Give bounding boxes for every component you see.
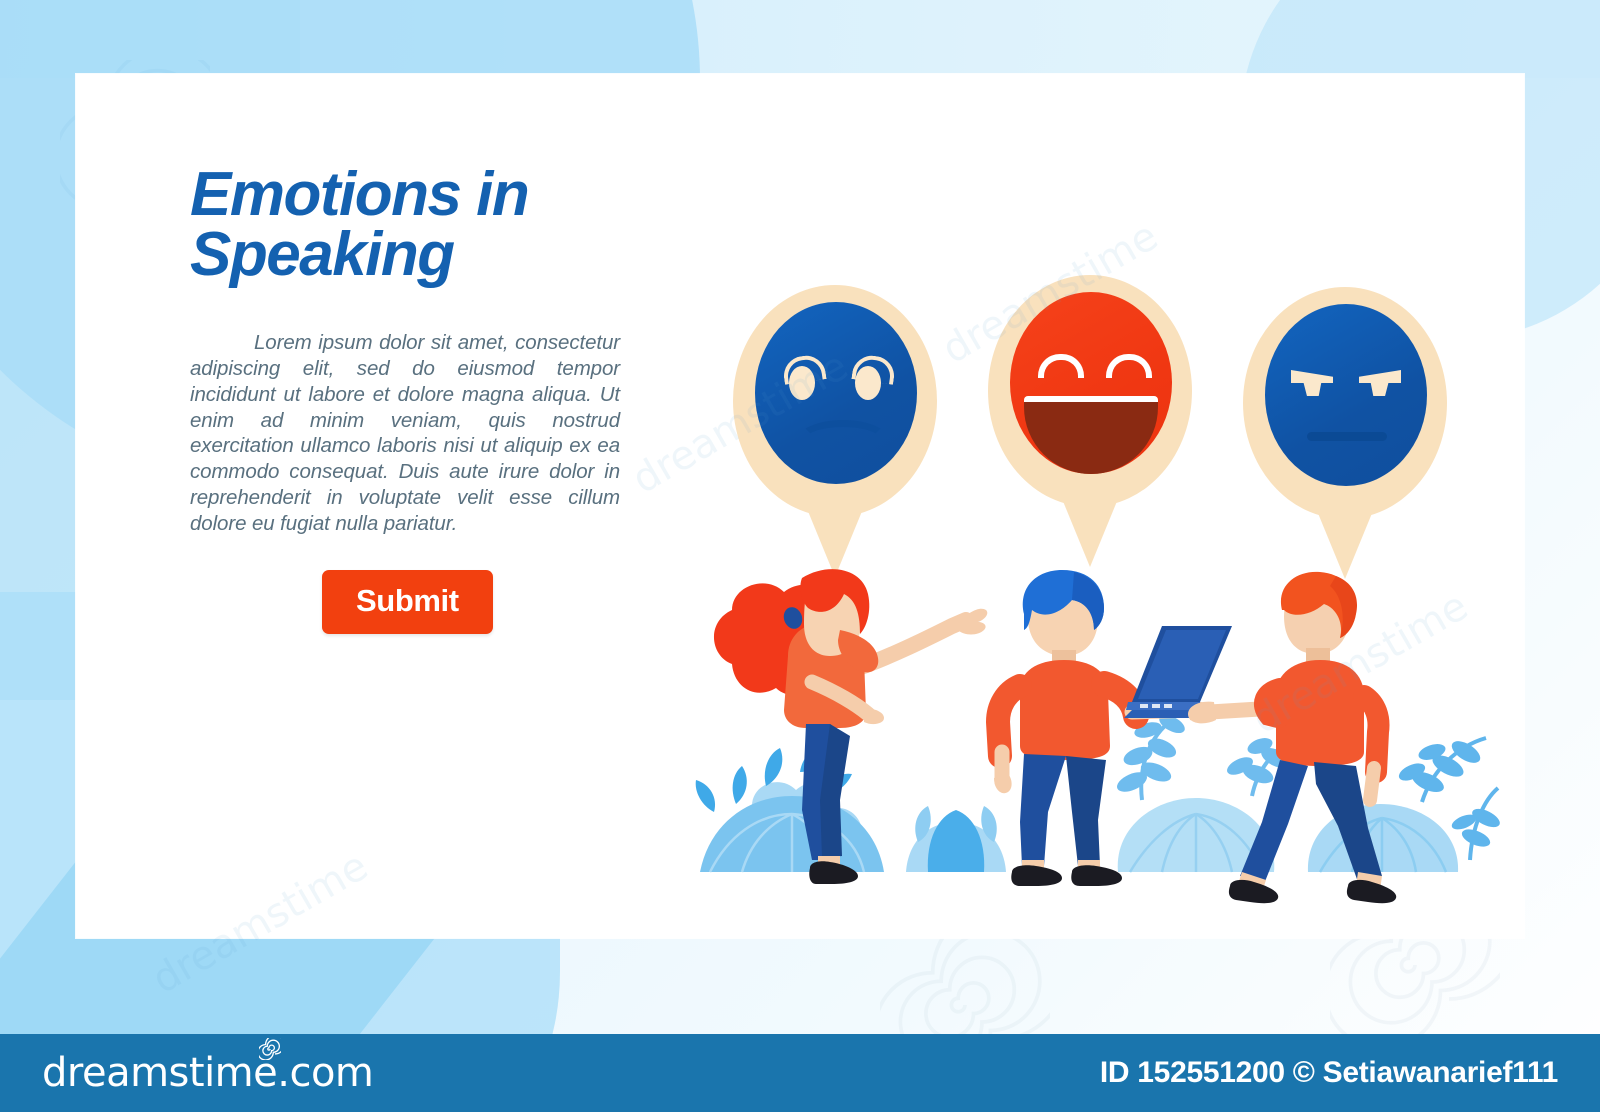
happy-face-icon xyxy=(1010,292,1172,474)
angry-face-icon xyxy=(1265,304,1427,486)
emoji-pin-group xyxy=(710,275,1510,575)
footer-bar: dreamstime.com ID 152551200 © Setiawanar… xyxy=(0,1034,1600,1112)
plant-bush-center-small xyxy=(906,806,1006,872)
sad-face-icon xyxy=(755,302,917,484)
brand-text: dreamstime.com xyxy=(42,1050,373,1096)
eye-left xyxy=(1291,370,1333,396)
people-scene xyxy=(680,560,1500,940)
mouth-flat xyxy=(1307,432,1387,441)
plant-sprig-far-right xyxy=(1450,788,1500,860)
eye-right xyxy=(1106,354,1152,378)
angry-emoji-pin[interactable] xyxy=(1235,287,1455,587)
eye-left xyxy=(1038,354,1084,378)
page-title: Emotions in Speaking xyxy=(190,165,630,284)
eye-left xyxy=(789,366,815,400)
page-description: Lorem ipsum dolor sit amet, consectetur … xyxy=(190,330,620,537)
plant-bush-left xyxy=(696,744,884,872)
sad-emoji-pin[interactable] xyxy=(725,285,945,585)
dreamstime-logo: dreamstime.com xyxy=(42,1050,373,1096)
eye-right xyxy=(855,366,881,400)
happy-emoji-pin[interactable] xyxy=(980,275,1200,575)
text-column: Emotions in Speaking Lorem ipsum dolor s… xyxy=(190,165,630,537)
spiral-logo-icon xyxy=(259,1038,281,1060)
submit-button[interactable]: Submit xyxy=(322,570,493,634)
illustration-canvas: Emotions in Speaking Lorem ipsum dolor s… xyxy=(0,0,1600,1112)
eye-right xyxy=(1359,370,1401,396)
mouth-frown xyxy=(797,420,889,461)
image-credit: ID 152551200 © Setiawanarief111 xyxy=(1100,1056,1558,1090)
